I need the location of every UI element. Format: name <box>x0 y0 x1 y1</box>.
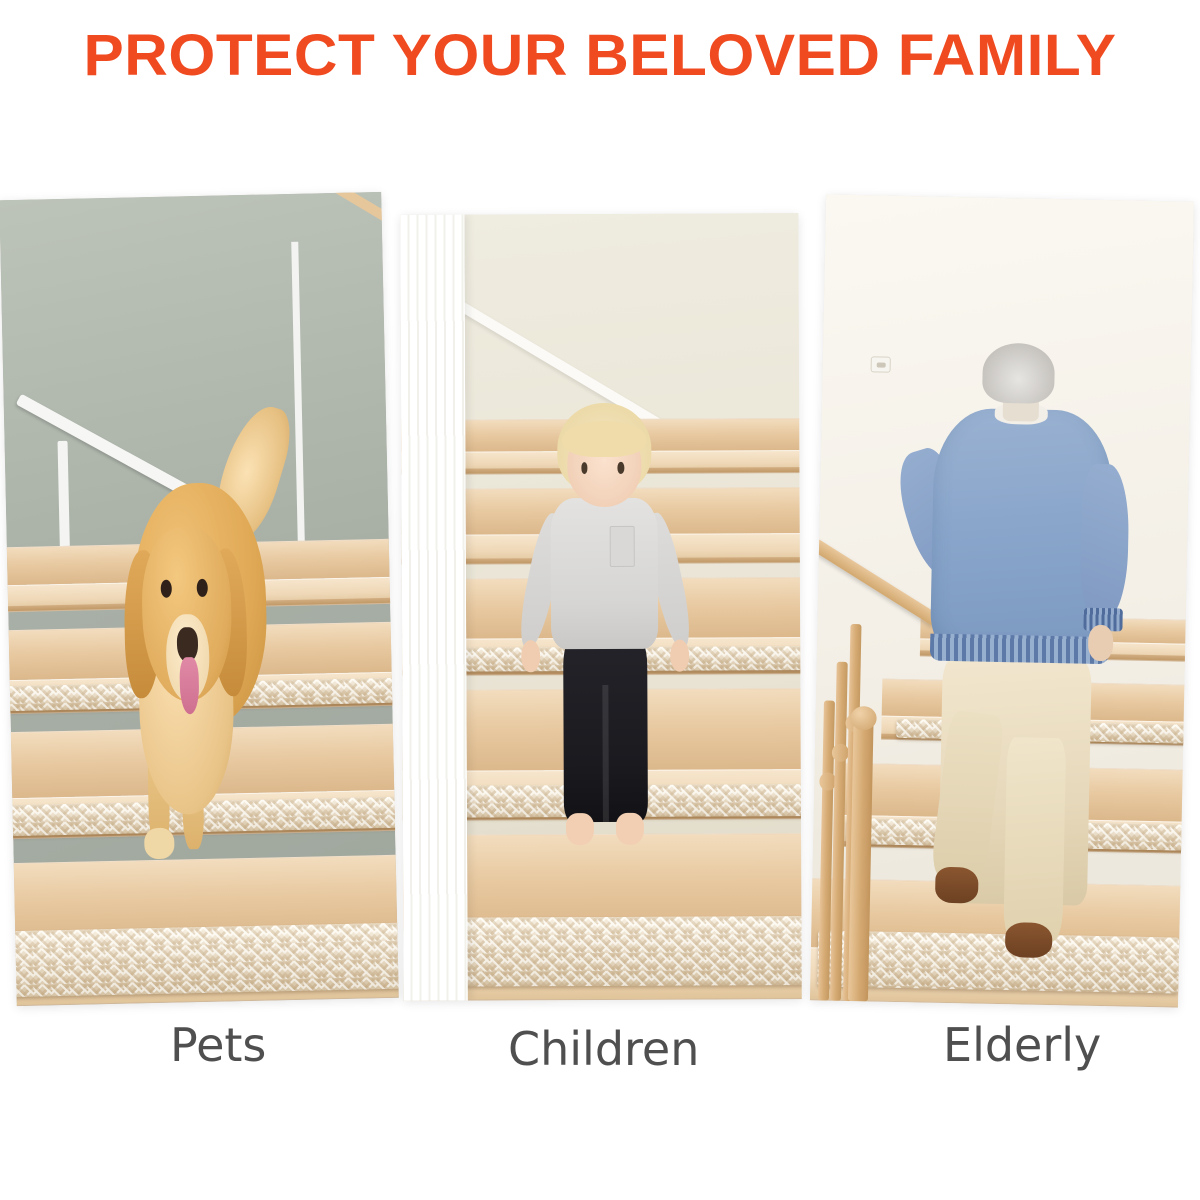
dog-eye-left <box>160 580 172 599</box>
child-leg-separation <box>602 685 609 822</box>
photo-elderly <box>810 194 1194 1007</box>
golden-retriever-dog <box>103 411 326 851</box>
man-shoe-left <box>935 867 978 904</box>
dog-paw <box>144 828 175 859</box>
product-feature-image: PROTECT YOUR BELOVED FAMILY <box>0 0 1200 1200</box>
child-eye-right <box>618 462 625 474</box>
man-sweater-hem <box>930 634 1110 664</box>
child-hand-right <box>670 639 689 671</box>
caption-pets: Pets <box>170 1018 266 1072</box>
caption-elderly: Elderly <box>943 1018 1101 1072</box>
feature-panel-children <box>400 213 801 1001</box>
man-hand <box>1088 625 1114 661</box>
beadboard-wall-panel <box>400 215 467 1001</box>
feature-panel-pets <box>0 192 399 1006</box>
child-eye-left <box>581 462 588 474</box>
child-hand-left <box>522 640 541 672</box>
photo-children <box>400 213 801 1001</box>
man-leg-right <box>1003 737 1067 941</box>
man-sleeve-right <box>1080 464 1130 620</box>
photo-pets <box>0 192 399 1006</box>
wall-outlet <box>870 357 890 373</box>
child-shirt <box>551 498 659 649</box>
dog-tongue <box>179 657 199 714</box>
child-shirt-pocket <box>610 526 635 567</box>
man-hair <box>982 343 1056 404</box>
child-foot-right <box>616 813 645 845</box>
stair-tread-mat <box>435 916 802 987</box>
feature-panel-elderly <box>810 194 1194 1007</box>
child-fringe <box>562 421 646 458</box>
man-shoe-right <box>1005 922 1053 959</box>
child-foot-left <box>566 813 595 845</box>
caption-children: Children <box>508 1022 699 1076</box>
stair-tread-mat <box>0 923 399 998</box>
toddler-child <box>520 402 689 859</box>
elderly-man <box>907 341 1132 942</box>
